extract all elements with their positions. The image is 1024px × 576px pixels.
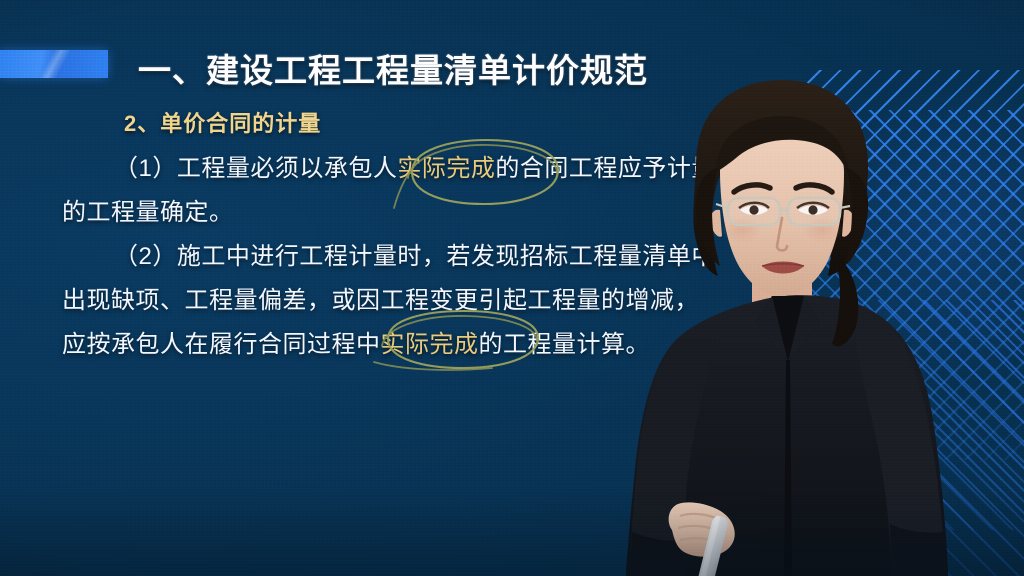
lecture-video-frame: 一、建设工程工程量清单计价规范 2、单价合同的计量 （1）工程量必须以承包人实际… <box>0 0 1024 576</box>
body-line-4: 出现缺项、工程量偏差，或因工程变更引起工程量的增减， <box>62 280 742 322</box>
body-line-1: （1）工程量必须以承包人实际完成的合同工程应予计量 <box>62 148 742 190</box>
slide-subheading: 2、单价合同的计量 <box>124 106 321 138</box>
slide-title: 一、建设工程工程量清单计价规范 <box>138 44 648 92</box>
body-line-3: （2）施工中进行工程计量时，若发现招标工程量清单中 <box>62 236 742 278</box>
body-line-5: 应按承包人在履行合同过程中实际完成的工程量计算。 <box>62 324 742 366</box>
body-line-5-text-a: 应按承包人在履行合同过程中 <box>62 331 381 358</box>
body-line-1-highlight: 实际完成 <box>397 155 495 182</box>
body-line-5-highlight: 实际完成 <box>381 331 479 358</box>
body-line-2: 的工程量确定。 <box>62 192 742 234</box>
title-accent-bar <box>0 50 108 78</box>
body-line-1-text-a: （1）工程量必须以承包人 <box>114 155 397 182</box>
body-line-1-text-b: 的合同工程应予计量 <box>495 155 716 182</box>
body-line-5-text-b: 的工程量计算。 <box>479 331 651 358</box>
slide-body: （1）工程量必须以承包人实际完成的合同工程应予计量 的工程量确定。 （2）施工中… <box>62 148 742 368</box>
